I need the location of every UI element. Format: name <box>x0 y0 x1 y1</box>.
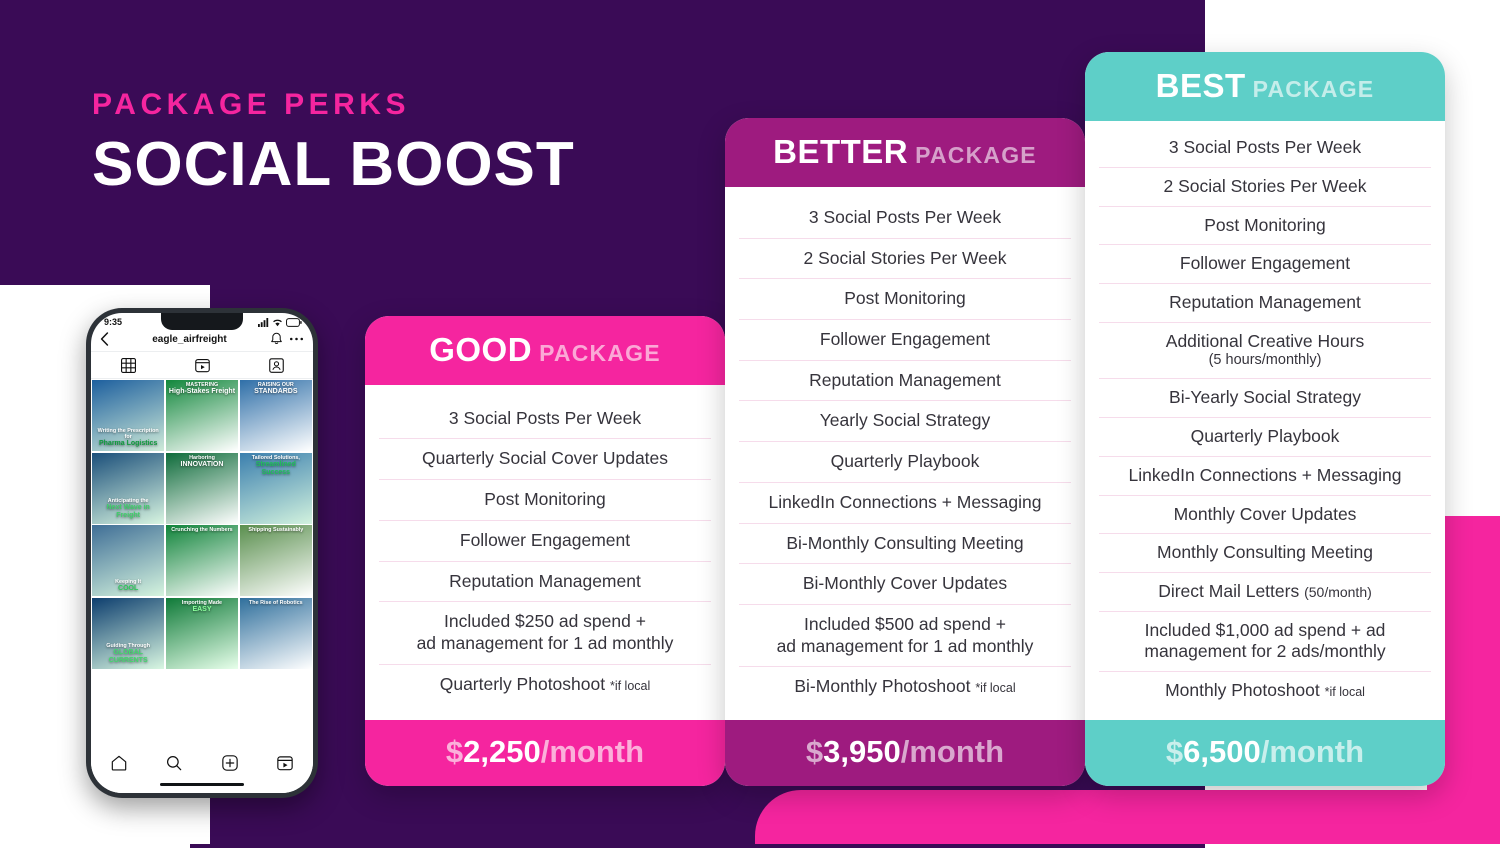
cellular-signal-icon <box>258 318 269 327</box>
price-period: /month <box>541 734 644 769</box>
page-title: SOCIAL BOOST <box>92 132 575 197</box>
status-time: 9:35 <box>104 317 122 327</box>
feature-item: 2 Social Stories Per Week <box>1099 168 1431 207</box>
feature-item: LinkedIn Connections + Messaging <box>739 483 1071 524</box>
grid-post-label: Importing MadeEASY <box>166 598 238 617</box>
back-chevron-icon[interactable] <box>100 332 109 346</box>
price-bar-good: $2,250/month <box>365 720 725 786</box>
price-currency: $ <box>446 734 463 769</box>
feature-item: Bi-Yearly Social Strategy <box>1099 379 1431 418</box>
feature-item: 2 Social Stories Per Week <box>739 239 1071 280</box>
package-card-good[interactable]: GOODPACKAGE 3 Social Posts Per WeekQuart… <box>365 316 725 786</box>
feature-item: Included $1,000 ad spend + admanagement … <box>1099 612 1431 672</box>
price-period: /month <box>901 734 1004 769</box>
instagram-bottom-nav <box>91 749 313 793</box>
feature-item: Bi-Monthly Cover Updates <box>739 564 1071 605</box>
feature-item: 3 Social Posts Per Week <box>1099 129 1431 168</box>
feature-item: Monthly Consulting Meeting <box>1099 534 1431 573</box>
tier-label: BEST <box>1156 67 1246 104</box>
grid-post-label: Tailored Solutions,Streamlined Success <box>240 453 312 480</box>
grid-post-label: Anticipating theNext Wave in Freight <box>92 496 164 523</box>
price-period: /month <box>1261 734 1364 769</box>
grid-post-tile[interactable]: Crunching the Numbers <box>166 525 238 596</box>
grid-post-tile[interactable]: The Rise of Robotics <box>240 598 312 669</box>
profile-tab-bar <box>91 352 313 379</box>
search-icon[interactable] <box>166 755 182 771</box>
grid-post-tile[interactable]: RAISING OURSTANDARDS <box>240 380 312 451</box>
tagged-person-icon[interactable] <box>269 358 284 373</box>
price-amount: 6,500 <box>1183 734 1261 769</box>
feature-item: Included $500 ad spend +ad management fo… <box>739 605 1071 667</box>
status-icon-group <box>258 318 302 327</box>
package-word: PACKAGE <box>1253 76 1375 102</box>
ellipsis-icon[interactable] <box>289 332 304 346</box>
feature-item: 3 Social Posts Per Week <box>379 399 711 440</box>
headline-block: PACKAGE PERKS SOCIAL BOOST <box>92 88 575 197</box>
tier-label: GOOD <box>429 331 532 368</box>
feature-item: Quarterly Playbook <box>1099 418 1431 457</box>
reels-icon[interactable] <box>277 755 293 771</box>
feature-item: Reputation Management <box>379 562 711 603</box>
feature-item: Post Monitoring <box>739 279 1071 320</box>
feature-item: Follower Engagement <box>1099 245 1431 284</box>
feature-item: Included $250 ad spend +ad management fo… <box>379 602 711 664</box>
phone-screen: 9:35 <box>91 313 313 793</box>
feature-list-better: 3 Social Posts Per Week2 Social Stories … <box>725 187 1085 720</box>
phone-notch <box>161 313 243 330</box>
feature-item: Quarterly Playbook <box>739 442 1071 483</box>
package-word: PACKAGE <box>539 340 661 366</box>
card-header-better: BETTERPACKAGE <box>725 118 1085 187</box>
grid-post-label: Guiding ThroughGLOBAL CURRENTS <box>92 641 164 668</box>
price-bar-best: $6,500/month <box>1085 720 1445 786</box>
grid-post-tile[interactable]: Shipping Sustainably <box>240 525 312 596</box>
grid-post-tile[interactable]: Importing MadeEASY <box>166 598 238 669</box>
kicker-text: PACKAGE PERKS <box>92 88 575 122</box>
plus-square-icon[interactable] <box>222 755 238 771</box>
feature-item: Monthly Cover Updates <box>1099 496 1431 535</box>
instagram-profile-header: eagle_airfreight <box>91 328 313 352</box>
price-amount: 2,250 <box>463 734 541 769</box>
package-card-best[interactable]: BESTPACKAGE 3 Social Posts Per Week2 Soc… <box>1085 52 1445 786</box>
feature-item: Monthly Photoshoot *if local <box>1099 672 1431 710</box>
feature-item: Post Monitoring <box>379 480 711 521</box>
grid-post-label: Crunching the Numbers <box>166 525 238 536</box>
wifi-icon <box>272 318 283 327</box>
grid-post-tile[interactable]: Writing the Prescription forPharma Logis… <box>92 380 164 451</box>
grid-icon[interactable] <box>121 358 136 373</box>
profile-username: eagle_airfreight <box>152 334 226 345</box>
feature-item: Bi-Monthly Photoshoot *if local <box>739 667 1071 707</box>
grid-post-label: Writing the Prescription forPharma Logis… <box>92 426 164 451</box>
feature-item: Yearly Social Strategy <box>739 401 1071 442</box>
grid-post-label: Keeping ItCOOL <box>92 577 164 596</box>
grid-post-tile[interactable]: Tailored Solutions,Streamlined Success <box>240 453 312 524</box>
feature-item: 3 Social Posts Per Week <box>739 198 1071 239</box>
feature-item: Additional Creative Hours(5 hours/monthl… <box>1099 323 1431 380</box>
feature-list-best: 3 Social Posts Per Week2 Social Stories … <box>1085 121 1445 720</box>
battery-icon <box>286 318 302 327</box>
package-word: PACKAGE <box>915 142 1037 168</box>
feature-item: Reputation Management <box>739 361 1071 402</box>
price-currency: $ <box>806 734 823 769</box>
grid-post-tile[interactable]: HarboringINNOVATION <box>166 453 238 524</box>
feature-item: Direct Mail Letters (50/month) <box>1099 573 1431 612</box>
grid-post-label: The Rise of Robotics <box>240 598 312 609</box>
feature-item: Bi-Monthly Consulting Meeting <box>739 524 1071 565</box>
grid-post-label: RAISING OURSTANDARDS <box>240 380 312 399</box>
card-header-good: GOODPACKAGE <box>365 316 725 385</box>
grid-post-label: Shipping Sustainably <box>240 525 312 536</box>
feature-list-good: 3 Social Posts Per WeekQuarterly Social … <box>365 385 725 720</box>
feature-item: Follower Engagement <box>739 320 1071 361</box>
bell-icon[interactable] <box>270 332 283 346</box>
package-card-better[interactable]: BETTERPACKAGE 3 Social Posts Per Week2 S… <box>725 118 1085 786</box>
grid-post-label: MASTERINGHigh-Stakes Freight <box>166 380 238 399</box>
price-bar-better: $3,950/month <box>725 720 1085 786</box>
card-header-best: BESTPACKAGE <box>1085 52 1445 121</box>
feature-item: Quarterly Social Cover Updates <box>379 439 711 480</box>
feature-item: Post Monitoring <box>1099 207 1431 246</box>
grid-post-label: HarboringINNOVATION <box>166 453 238 472</box>
feature-item: Reputation Management <box>1099 284 1431 323</box>
phone-mockup: 9:35 <box>86 308 318 798</box>
grid-post-tile[interactable]: Guiding ThroughGLOBAL CURRENTS <box>92 598 164 669</box>
price-amount: 3,950 <box>823 734 901 769</box>
price-currency: $ <box>1166 734 1183 769</box>
feature-item: Follower Engagement <box>379 521 711 562</box>
grid-post-tile[interactable]: Keeping ItCOOL <box>92 525 164 596</box>
home-icon[interactable] <box>111 755 127 771</box>
feature-item: LinkedIn Connections + Messaging <box>1099 457 1431 496</box>
grid-post-tile[interactable]: MASTERINGHigh-Stakes Freight <box>166 380 238 451</box>
background-pink-bottom-shape <box>755 790 1500 844</box>
grid-post-tile[interactable]: Anticipating theNext Wave in Freight <box>92 453 164 524</box>
home-indicator-bar <box>160 783 244 787</box>
feature-item: Quarterly Photoshoot *if local <box>379 665 711 705</box>
tier-label: BETTER <box>773 133 908 170</box>
instagram-post-grid: Writing the Prescription forPharma Logis… <box>91 379 313 669</box>
reels-icon[interactable] <box>195 358 210 373</box>
